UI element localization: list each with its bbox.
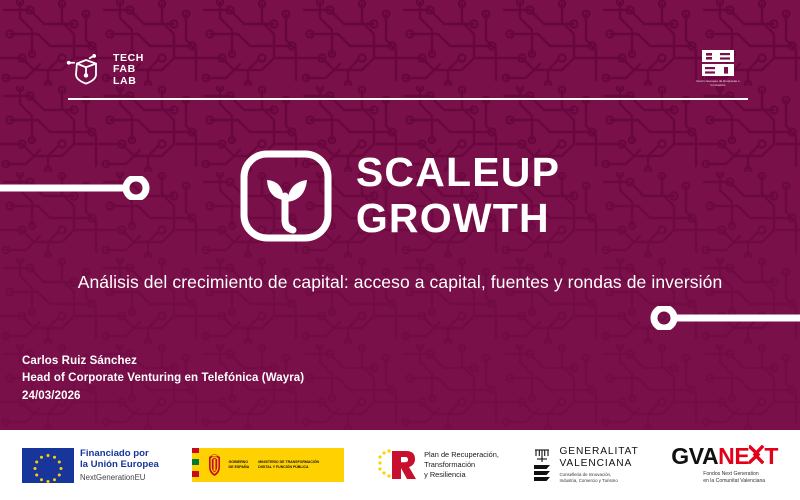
gobierno-text: GOBIERNO DE ESPAÑA [229, 460, 250, 470]
eu-line-1: Financiado por [80, 448, 159, 459]
eu-line-3: NextGenerationEU [80, 473, 159, 482]
gvanext-word-t: T [764, 445, 778, 468]
presenter-name: Carlos Ruiz Sánchez [22, 353, 304, 370]
spain-flag-stripes-icon [192, 448, 199, 482]
techfablab-cube-icon [66, 50, 106, 90]
ceei-mark-icon [694, 48, 742, 78]
ceei-logo: Centro Europeo de Empresas e Innovación [694, 48, 742, 88]
prtr-r-mark-icon [376, 448, 418, 482]
generalitat-line-1: GENERALITAT [559, 446, 638, 457]
title-line-1: SCALEUP [356, 150, 560, 196]
ministerio-text: MINISTERIO DE TRANSFORMACIÓN DIGITAL Y F… [258, 460, 330, 469]
generalitat-valenciana-logo: GENERALITAT VALENCIANA Conselleria de In… [531, 446, 638, 484]
gvanext-sub-line-1: Fondos Next Generation [703, 471, 765, 478]
prtr-line-2: Transformación [424, 460, 499, 470]
techfablab-line-2: FAB [113, 64, 144, 75]
prtr-text: Plan de Recuperación, Transformación y R… [424, 450, 499, 481]
prtr-line-1: Plan de Recuperación, [424, 450, 499, 460]
gobierno-espana-logo: GOBIERNO DE ESPAÑA MINISTERIO DE TRANSFO… [192, 448, 344, 482]
title-line-2: GROWTH [356, 196, 560, 242]
slide-subtitle: Análisis del crecimiento de capital: acc… [0, 272, 800, 293]
spain-coat-of-arms-icon [206, 453, 223, 477]
gvanext-sub-line-2: en la Comunitat Valenciana [703, 478, 765, 485]
header-divider [68, 98, 748, 100]
title-wordmark: SCALEUP GROWTH [356, 150, 560, 242]
techfablab-logo: TECH FAB LAB [66, 50, 144, 90]
gvanext-word-ne: NE [718, 445, 749, 468]
techfablab-wordmark: TECH FAB LAB [113, 53, 144, 87]
slide-header: TECH FAB LAB Centro Europeo de Em [0, 0, 800, 105]
eu-flag-icon [22, 448, 74, 483]
presenter-info: Carlos Ruiz Sánchez Head of Corporate Ve… [22, 353, 304, 405]
gvanext-subtext: Fondos Next Generation en la Comunitat V… [703, 471, 765, 486]
eu-funding-logo: Financiado por la Unión Europea NextGene… [22, 448, 159, 483]
presentation-slide: TECH FAB LAB Centro Europeo de Em [0, 0, 800, 500]
presentation-date: 24/03/2026 [22, 388, 304, 405]
gvanext-word-gva: GVA [671, 445, 718, 468]
plan-recuperacion-logo: Plan de Recuperación, Transformación y R… [376, 448, 499, 482]
techfablab-line-3: LAB [113, 76, 144, 87]
presenter-role: Head of Corporate Venturing en Telefónic… [22, 370, 304, 387]
gvanext-wordmark: GVA NE T [671, 445, 778, 468]
ceei-caption: Centro Europeo de Empresas e Innovación [694, 80, 742, 88]
eu-funding-text: Financiado por la Unión Europea NextGene… [80, 448, 159, 482]
gvanext-logo: GVA NE T Fondos Next Generation en la Co… [671, 445, 778, 486]
decorative-circuit-trace-right [648, 306, 800, 330]
gobierno-flag-panel: GOBIERNO DE ESPAÑA MINISTERIO DE TRANSFO… [192, 448, 344, 482]
prtr-line-3: y Resiliencia [424, 470, 499, 480]
conselleria-line-2: Industria, Comercio y Turismo [559, 478, 638, 484]
eu-line-2: la Unión Europea [80, 459, 159, 470]
sprout-plant-icon [240, 150, 332, 242]
gobierno-line-2: DE ESPAÑA [229, 465, 250, 470]
generalitat-text: GENERALITAT VALENCIANA Conselleria de In… [559, 446, 638, 484]
generalitat-line-2: VALENCIANA [559, 458, 638, 469]
title-block: SCALEUP GROWTH [0, 150, 800, 242]
gvanext-x-arrow-icon [749, 445, 764, 464]
footer-logo-strip: Financiado por la Unión Europea NextGene… [0, 430, 800, 500]
generalitat-crest-icon [531, 447, 553, 483]
